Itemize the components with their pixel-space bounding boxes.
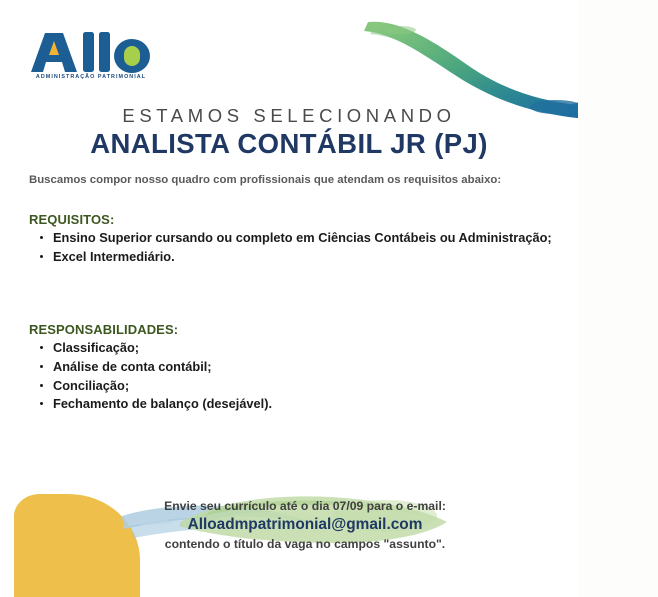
bullet-dot-icon [40, 236, 43, 239]
list-item: Classificação; [29, 339, 574, 357]
bullet-dot-icon [40, 346, 43, 349]
page-title: ANALISTA CONTÁBIL JR (PJ) [0, 128, 578, 160]
bullet-dot-icon [40, 402, 43, 405]
requisitos-list: Ensino Superior cursando ou completo em … [29, 229, 574, 266]
list-item: Ensino Superior cursando ou completo em … [29, 229, 574, 247]
footer-instruction-line: Envie seu currículo até o dia 07/09 para… [95, 498, 515, 515]
contact-email[interactable]: Alloadmpatrimonial@gmail.com [95, 515, 515, 536]
green-to-blue-brush-stroke-icon [360, 14, 578, 119]
list-item: Conciliação; [29, 377, 574, 395]
bullet-dot-icon [40, 365, 43, 368]
list-item: Fechamento de balanço (desejável). [29, 395, 574, 413]
section-title: RESPONSABILIDADES: [29, 322, 574, 337]
list-item: Análise de conta contábil; [29, 358, 574, 376]
flyer-canvas: ADMINISTRAÇÃO PATRIMONIAL ESTAMOS SELECI… [0, 0, 658, 597]
list-item-label: Ensino Superior cursando ou completo em … [53, 230, 552, 245]
eyebrow-text: ESTAMOS SELECIONANDO [0, 105, 578, 127]
footer-contact: Envie seu currículo até o dia 07/09 para… [95, 498, 515, 553]
section-title: REQUISITOS: [29, 212, 574, 227]
list-item: Excel Intermediário. [29, 248, 574, 266]
flyer-page: ADMINISTRAÇÃO PATRIMONIAL ESTAMOS SELECI… [0, 0, 578, 597]
page-gutter [578, 0, 658, 597]
list-item-label: Análise de conta contábil; [53, 359, 212, 374]
list-item-label: Classificação; [53, 340, 139, 355]
logo-tagline: ADMINISTRAÇÃO PATRIMONIAL [29, 74, 153, 80]
bullet-dot-icon [40, 255, 43, 258]
list-item-label: Fechamento de balanço (desejável). [53, 396, 272, 411]
footer-note-line: contendo o título da vaga no campos "ass… [95, 536, 515, 553]
list-item-label: Excel Intermediário. [53, 249, 175, 264]
allo-logo: ADMINISTRAÇÃO PATRIMONIAL [29, 31, 153, 80]
bullet-dot-icon [40, 384, 43, 387]
section-responsabilidades: RESPONSABILIDADES: Classificação; Anális… [29, 322, 574, 414]
responsabilidades-list: Classificação; Análise de conta contábil… [29, 339, 574, 413]
allo-logo-mark [29, 31, 153, 73]
list-item-label: Conciliação; [53, 378, 129, 393]
subtitle-text: Buscamos compor nosso quadro com profiss… [29, 174, 574, 186]
section-requisitos: REQUISITOS: Ensino Superior cursando ou … [29, 212, 574, 267]
